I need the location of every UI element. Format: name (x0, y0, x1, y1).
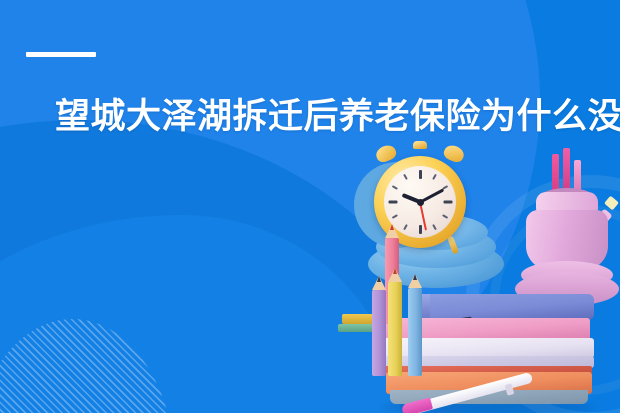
pencil-purple-icon (372, 276, 386, 376)
clock-hub-icon (417, 199, 424, 206)
pencil-blue-icon (408, 274, 422, 376)
holder-side-eraser-icon (604, 196, 619, 211)
study-supplies-illustration (330, 148, 620, 413)
book-blue-icon (408, 294, 594, 320)
page-title: 望城大泽湖拆迁后养老保险为什么没 (55, 99, 620, 134)
banner-graphic: 望城大泽湖拆迁后养老保险为什么没 (0, 0, 620, 413)
accent-rule (26, 52, 96, 57)
pencil-yellow-icon (388, 268, 402, 376)
clock-knob-icon (413, 141, 427, 149)
